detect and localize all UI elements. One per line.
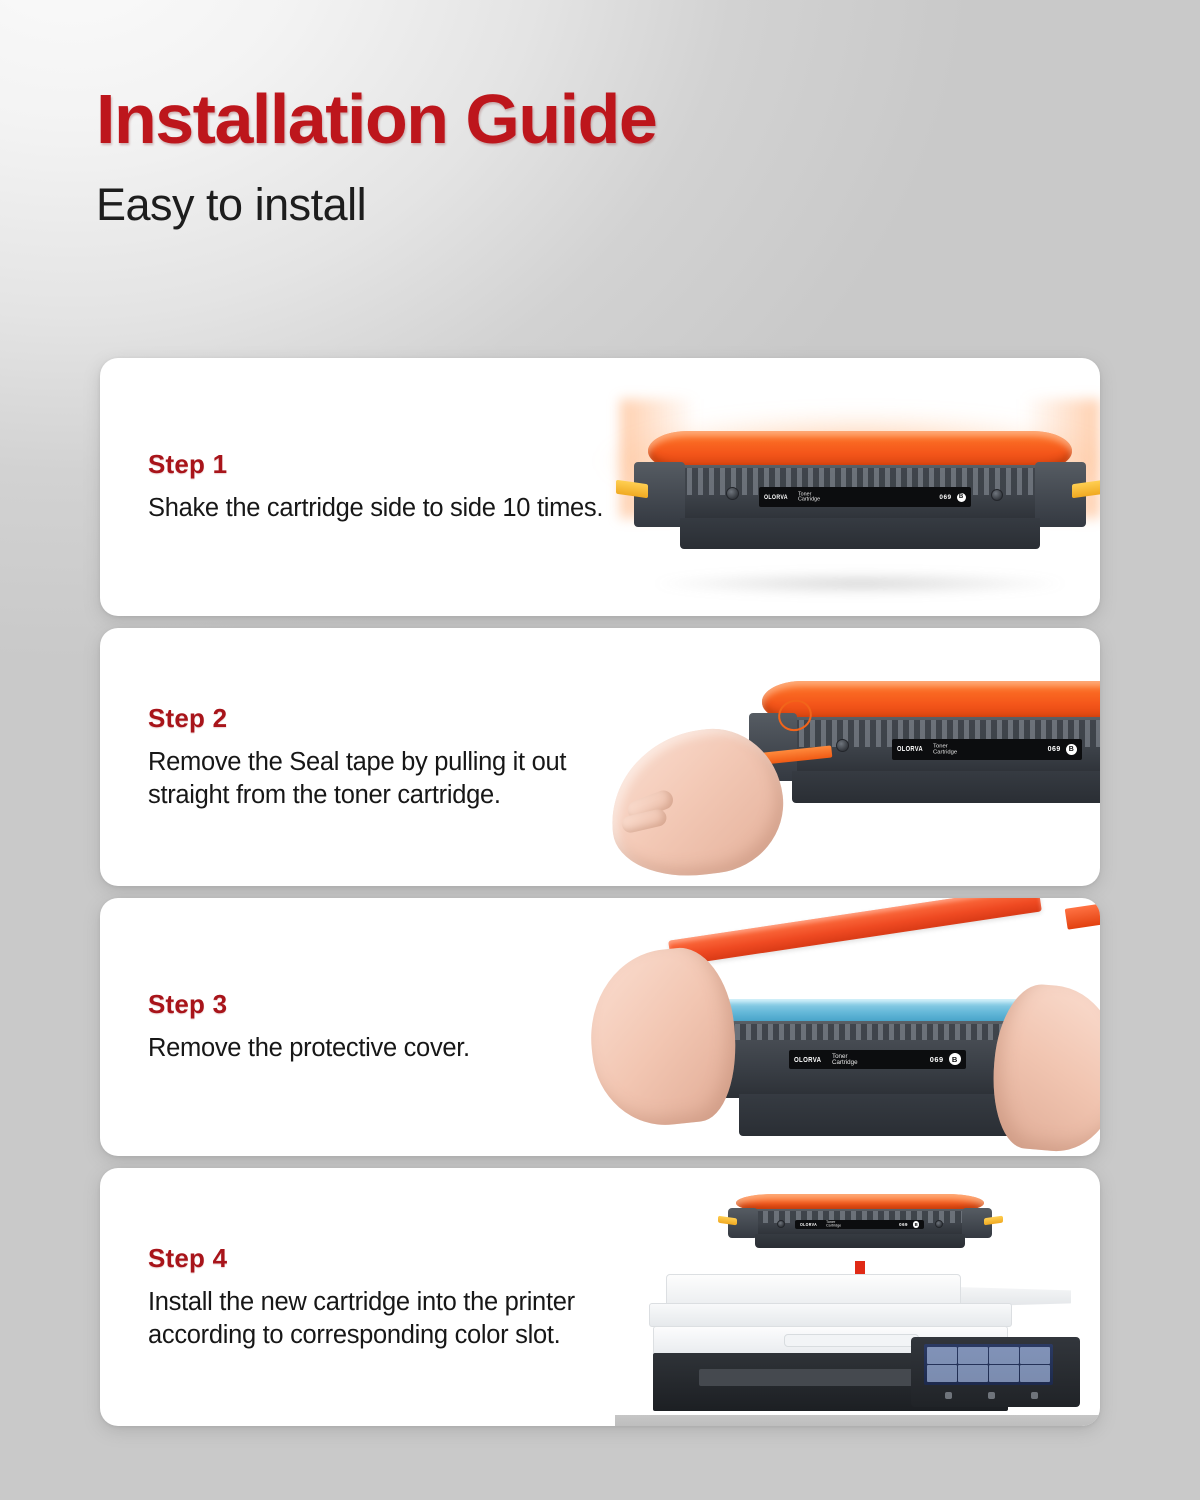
page-header: Installation Guide Easy to install [96,84,656,227]
cartridge-kind: Toner Cartridge [798,492,820,502]
touchscreen-tile [1020,1347,1050,1364]
page-subtitle: Easy to install [96,182,656,227]
printer-control-panel [911,1337,1080,1406]
step-card-4: Step 4 Install the new cartridge into th… [100,1168,1100,1426]
cartridge-model: 069 [1048,746,1061,753]
cartridge-kind-line2: Cartridge [826,1223,841,1227]
cartridge-skirt [792,771,1100,803]
dial-left [836,739,849,752]
step-4-label: Step 4 [148,1243,620,1274]
cartridge-skirt [680,518,1039,549]
cartridge-label: OLORVA Toner Cartridge 069 B [892,739,1082,760]
printer-button [988,1392,995,1399]
step-3-description: Remove the protective cover. [148,1032,620,1065]
cartridge-label: OLORVA Toner Cartridge 069 B [789,1050,966,1069]
step-1-text: Step 1 Shake the cartridge side to side … [100,449,620,525]
desk-surface [615,1415,1100,1426]
cartridge-skirt [755,1234,965,1248]
toner-cartridge-graphic: OLORVA Toner Cartridge 069 B [630,410,1091,565]
step-3-label: Step 3 [148,989,620,1020]
cartridge-model: 069 [899,1222,908,1227]
printer-button [1031,1392,1038,1399]
cartridge-kind-line2: Cartridge [933,748,957,754]
step-3-figure: OLORVA Toner Cartridge 069 B [620,898,1100,1156]
step-4-description: Install the new cartridge into the print… [148,1286,620,1351]
cartridge-model: 069 [939,494,951,501]
cartridge-color-code: B [957,493,966,502]
touchscreen-tile [989,1365,1019,1382]
step-1-description: Shake the cartridge side to side 10 time… [148,492,620,525]
cartridge-kind: Toner Cartridge [933,744,957,755]
cartridge-color-code: B [913,1221,920,1228]
touchscreen-tile [989,1347,1019,1364]
cartridge-skirt [739,1094,1039,1136]
touchscreen-tile [1020,1365,1050,1382]
installation-guide-page: Installation Guide Easy to install Step … [0,0,1200,1500]
cartridge-kind-line2: Cartridge [832,1058,858,1066]
cartridge-kind-line2: Cartridge [798,496,820,502]
step-card-3: Step 3 Remove the protective cover. OLOR… [100,898,1100,1156]
touchscreen-tile [958,1347,988,1364]
step-2-description: Remove the Seal tape by pulling it out s… [148,746,620,811]
cartridge-color-code: B [1066,744,1077,755]
step-2-text: Step 2 Remove the Seal tape by pulling i… [100,703,620,811]
touchscreen-tile [927,1365,957,1382]
printer-graphic [649,1274,1071,1418]
printer-button [945,1392,952,1399]
protective-cover-tip [1065,903,1100,929]
step-4-text: Step 4 Install the new cartridge into th… [100,1243,620,1351]
cartridge-brand: OLORVA [800,1222,817,1227]
protective-cover [668,898,1042,967]
printer-tray-handle [784,1334,919,1347]
step-3-text: Step 3 Remove the protective cover. [100,989,620,1065]
printer-hard-buttons [928,1389,1056,1403]
cartridge-brand: OLORVA [897,746,923,753]
toner-cartridge-graphic: OLORVA Toner Cartridge 069 B [745,659,1100,819]
step-card-2: Step 2 Remove the Seal tape by pulling i… [100,628,1100,886]
cartridge-label: OLORVA Toner Cartridge 069 B [759,487,971,507]
dial-right [991,489,1003,501]
printer-scanner-lid [666,1274,962,1306]
cartridge-kind: Toner Cartridge [826,1221,841,1228]
cartridge-brand: OLORVA [764,494,788,501]
tab-left [718,1216,737,1225]
steps-list: Step 1 Shake the cartridge side to side … [100,358,1100,1438]
cartridge-color-code: B [949,1053,961,1065]
printer-touchscreen [924,1344,1052,1384]
step-card-1: Step 1 Shake the cartridge side to side … [100,358,1100,616]
dial-right [935,1220,943,1228]
cartridge-shadow [649,572,1071,595]
page-title: Installation Guide [96,84,656,154]
cartridge-kind: Toner Cartridge [832,1053,858,1065]
printer-scanner-bed [649,1303,1012,1328]
cartridge-brand: OLORVA [794,1055,821,1064]
step-1-label: Step 1 [148,449,620,480]
toner-cartridge-graphic: OLORVA Toner Cartridge 069 B [726,1183,995,1255]
step-2-label: Step 2 [148,703,620,734]
tab-right [984,1216,1003,1225]
step-4-figure: OLORVA Toner Cartridge 069 B [620,1168,1100,1426]
cartridge-label: OLORVA Toner Cartridge 069 B [795,1220,924,1229]
cartridge-ribs [735,1024,1042,1040]
touchscreen-tile [958,1365,988,1382]
touchscreen-tile [927,1347,957,1364]
step-2-figure: OLORVA Toner Cartridge 069 B [620,628,1100,886]
step-1-figure: OLORVA Toner Cartridge 069 B [620,358,1100,616]
dial-left [777,1220,785,1228]
cartridge-model: 069 [930,1055,944,1064]
